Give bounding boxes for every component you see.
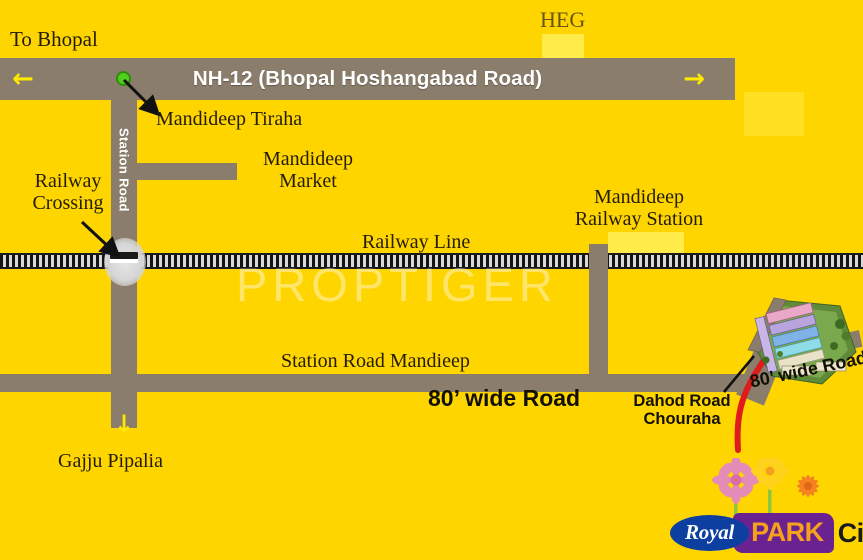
label-mandideep-railway-station: Mandideep Railway Station	[565, 186, 713, 231]
station-label-highlight-patch	[608, 232, 684, 254]
nh12-highway-bar: ← NH-12 (Bhopal Hoshangabad Road) →	[0, 58, 735, 100]
pointer-arrow-railway-crossing	[78, 218, 130, 266]
logo-text: Royal PARK City	[672, 512, 863, 554]
label-to-bhopal: To Bhopal	[10, 28, 98, 52]
label-gajju-pipalia: Gajju Pipalia	[58, 450, 163, 472]
label-dahod-road-chouraha: Dahod Road Chouraha	[632, 392, 732, 428]
heg-highlight-patch	[542, 34, 584, 58]
arrow-down-icon: ↓	[113, 412, 135, 436]
logo-royal-text: Royal	[672, 517, 747, 549]
arrow-right-icon: →	[683, 66, 705, 92]
railway-station-platform-gap	[589, 251, 608, 271]
label-railway-crossing: Railway Crossing	[14, 170, 122, 215]
label-station-road-mandieep: Station Road Mandieep	[281, 350, 470, 372]
label-railway-line: Railway Line	[362, 231, 470, 253]
logo-flowers-icon	[700, 458, 850, 520]
logo-park-text: PARK	[733, 513, 834, 553]
label-mandideep-market: Mandideep Market	[243, 148, 373, 193]
royal-park-city-logo[interactable]: Royal PARK City	[672, 460, 862, 558]
bottom-right-highlight-patch	[744, 92, 804, 136]
label-mandideep-tiraha: Mandideep Tiraha	[156, 108, 302, 130]
nh12-label: NH-12 (Bhopal Hoshangabad Road)	[193, 67, 542, 91]
logo-city-text: City	[838, 518, 863, 549]
label-eighty-feet-wide-road: 80’ wide Road	[428, 386, 580, 412]
arrow-left-icon: ←	[12, 66, 34, 92]
label-heg: HEG	[540, 8, 585, 33]
eighty-feet-wide-road	[0, 374, 760, 392]
mandideep-market-branch-road	[137, 163, 237, 180]
location-map: ← NH-12 (Bhopal Hoshangabad Road) → Stat…	[0, 0, 863, 560]
